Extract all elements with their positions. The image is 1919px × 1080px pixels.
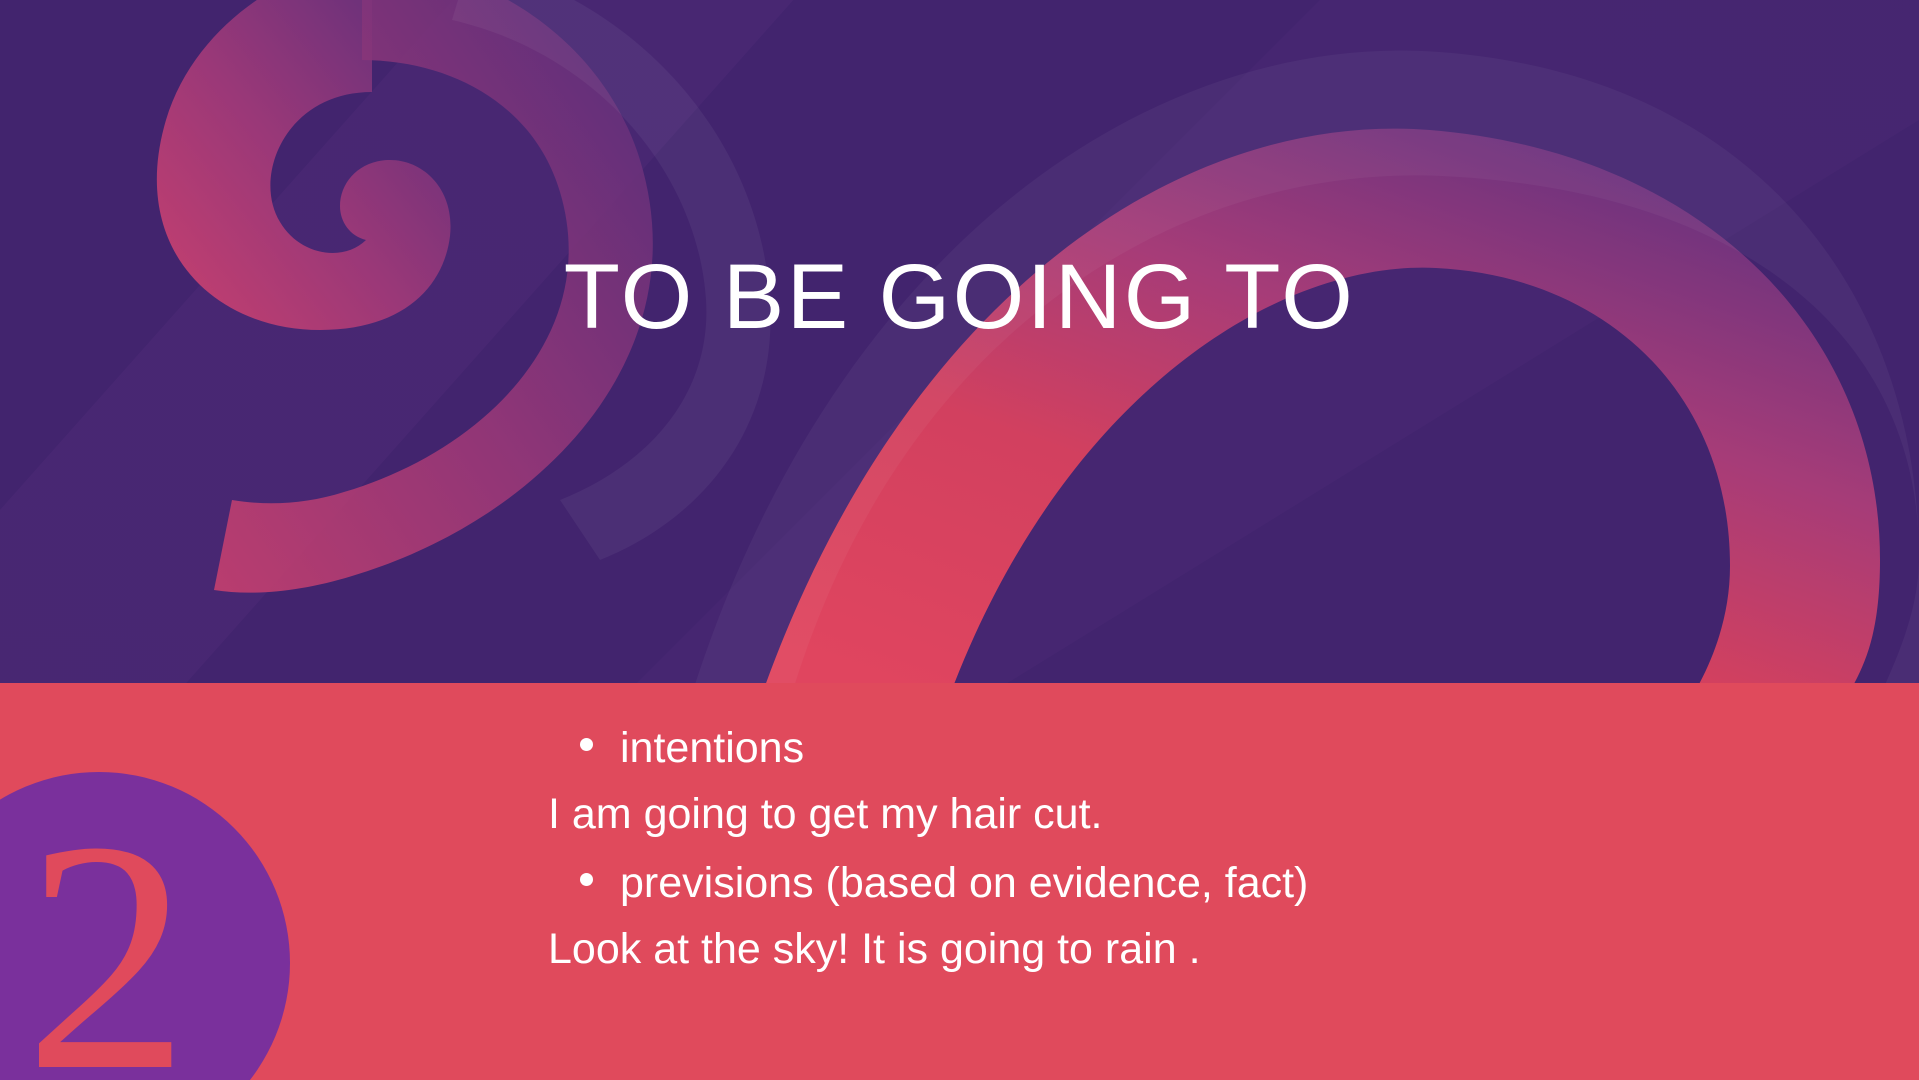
bullet-label: previsions (based on evidence, fact) [620,862,1308,905]
slide-body: intentions I am going to get my hair cut… [548,727,1878,997]
example-sentence-previsions: Look at the sky! It is going to rain . [548,928,1878,971]
bullet-dot-icon [580,738,593,751]
slide-number-text: 2 [25,792,190,1080]
bullet-label: intentions [620,727,804,770]
example-sentence-intentions: I am going to get my hair cut. [548,793,1878,836]
presentation-slide: 2 TO BE GOING TO intentions I am going t… [0,0,1919,1080]
bullet-item-intentions: intentions [548,727,1878,770]
slide-title: TO BE GOING TO [0,247,1919,348]
bullet-dot-icon [580,873,593,886]
bullet-item-previsions: previsions (based on evidence, fact) [548,862,1878,905]
